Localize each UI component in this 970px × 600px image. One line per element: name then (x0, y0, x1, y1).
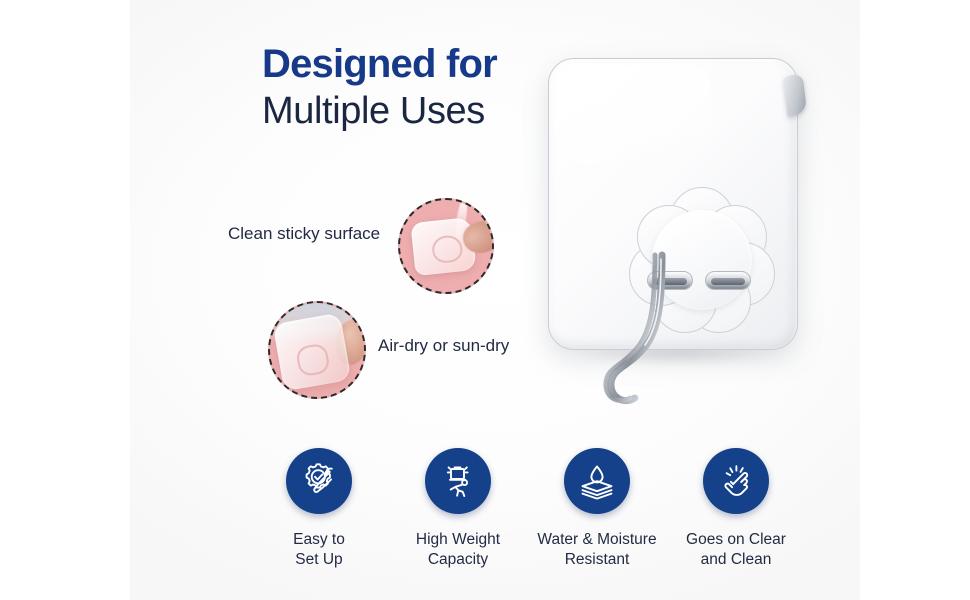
product-hero-image (520, 40, 840, 390)
feature-goes-on-clear-and-clean: Goes on Clear and Clean (671, 448, 801, 571)
callout-photo-clean-sticky-surface (398, 198, 494, 294)
feature-easy-to-set-up: Easy to Set Up (254, 448, 384, 571)
clean-sticky-surface-image (400, 200, 492, 292)
infographic-canvas: Designed for Multiple Uses Clean sticky … (0, 0, 970, 600)
gear-check-wrench-icon (299, 461, 339, 501)
feature-label: Goes on Clear and Clean (671, 530, 801, 571)
feature-icon-circle (425, 448, 491, 514)
callout-photo-air-dry-sun-dry (268, 301, 366, 399)
callout-label-air-dry-sun-dry: Air-dry or sun-dry (378, 334, 508, 359)
feature-label: Water & Moisture Resistant (532, 530, 662, 571)
metal-hook (605, 255, 715, 405)
peel-tab (783, 73, 807, 118)
feature-high-weight-capacity: High Weight Capacity (393, 448, 523, 571)
water-droplet-layers-icon (577, 461, 617, 501)
air-dry-sun-dry-image (270, 303, 364, 397)
feature-water-moisture-resistant: Water & Moisture Resistant (532, 448, 662, 571)
feature-icon-circle (564, 448, 630, 514)
tapping-hand-icon (716, 461, 756, 501)
adhesive-backing-plate (548, 58, 798, 350)
feature-icon-circle (703, 448, 769, 514)
feature-label: High Weight Capacity (393, 530, 523, 571)
slot-pin (711, 278, 745, 285)
person-carrying-weight-icon (439, 462, 477, 500)
feature-label: Easy to Set Up (254, 530, 384, 571)
callout-label-clean-sticky-surface: Clean sticky surface (228, 222, 348, 247)
feature-row: Easy to Set Up High Weigh (270, 448, 790, 583)
feature-icon-circle (286, 448, 352, 514)
adhesive-pad (272, 313, 350, 391)
